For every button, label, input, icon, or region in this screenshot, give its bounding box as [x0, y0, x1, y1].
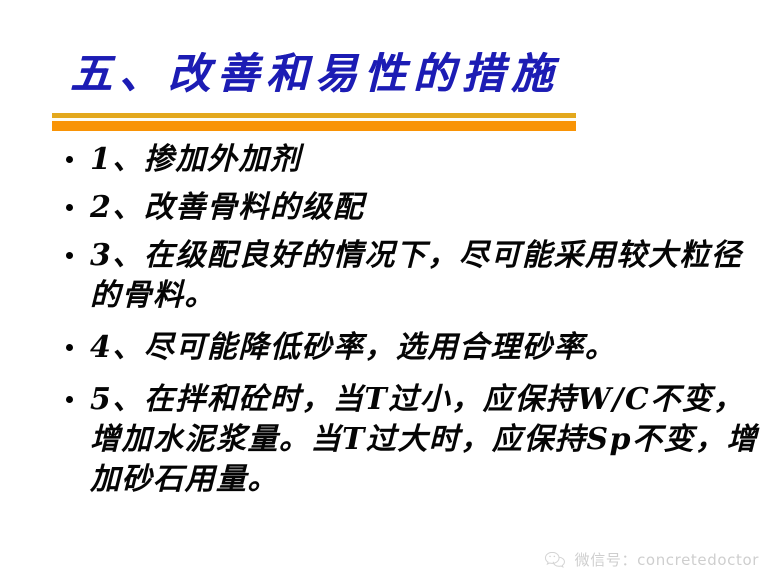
bullet-dot-icon — [66, 344, 73, 351]
watermark: 微信号：concretedoctor — [544, 549, 759, 570]
list-item-text: 5、在拌和砼时，当T过小，应保持W/C不变，增加水泥浆量。当T过大时，应保持Sp… — [90, 380, 772, 500]
bullet-dot-icon — [66, 204, 73, 211]
list-item: 3、在级配良好的情况下，尽可能采用较大粒径的骨料。 — [60, 236, 772, 316]
bullet-dot-icon — [66, 156, 73, 163]
bullet-dot-icon — [66, 252, 73, 259]
list-item-text: 3、在级配良好的情况下，尽可能采用较大粒径的骨料。 — [90, 236, 772, 316]
title-divider — [52, 113, 576, 131]
divider-thick-line — [52, 121, 576, 131]
list-item: 2、改善骨料的级配 — [60, 188, 772, 228]
page-title: 五、改善和易性的措施 — [52, 46, 578, 102]
list-item-text: 4、尽可能降低砂率，选用合理砂率。 — [90, 328, 772, 368]
watermark-text: 微信号：concretedoctor — [575, 549, 759, 570]
wechat-icon — [544, 550, 566, 569]
list-item-text: 1、掺加外加剂 — [90, 140, 772, 180]
title-block: 五、改善和易性的措施 — [52, 46, 578, 102]
slide-canvas: 五、改善和易性的措施 1、掺加外加剂 2、改善骨料的级配 3、在级配良好的情况下… — [0, 0, 783, 588]
bullet-list: 1、掺加外加剂 2、改善骨料的级配 3、在级配良好的情况下，尽可能采用较大粒径的… — [60, 140, 772, 500]
list-item: 1、掺加外加剂 — [60, 140, 772, 180]
list-item: 4、尽可能降低砂率，选用合理砂率。 — [60, 328, 772, 368]
list-item: 5、在拌和砼时，当T过小，应保持W/C不变，增加水泥浆量。当T过大时，应保持Sp… — [60, 380, 772, 500]
bullet-dot-icon — [66, 396, 73, 403]
list-item-text: 2、改善骨料的级配 — [90, 188, 772, 228]
